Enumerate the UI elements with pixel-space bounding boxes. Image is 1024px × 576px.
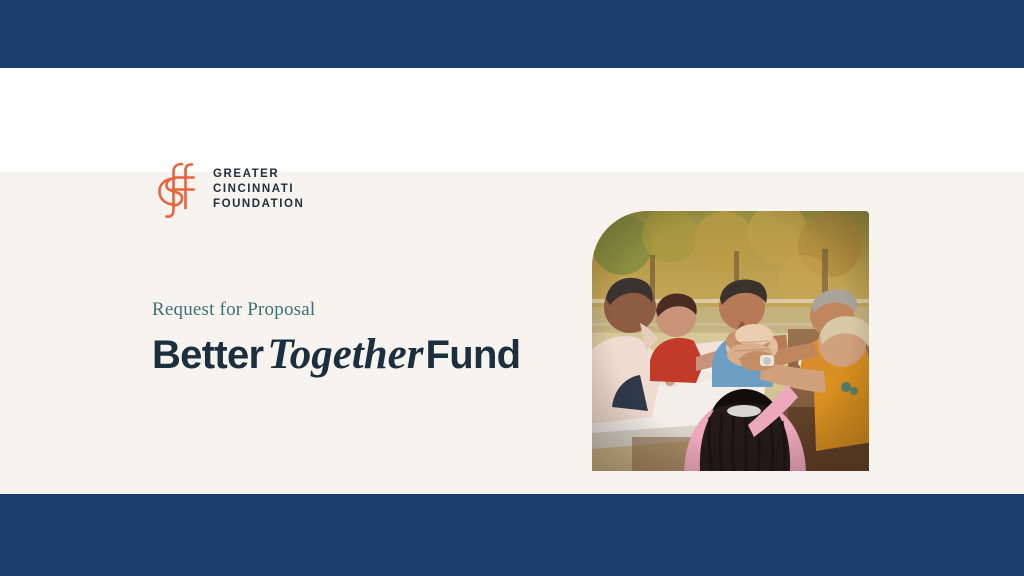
logo-line-foundation: FOUNDATION xyxy=(213,198,304,210)
headline-word-together: Together xyxy=(263,331,425,378)
logo-line-cincinnati: CINCINNATI xyxy=(213,183,304,195)
logo-line-greater: GREATER xyxy=(213,168,304,180)
bottom-navy-bar xyxy=(0,494,1024,576)
slide: GREATER CINCINNATI FOUNDATION Request fo… xyxy=(0,0,1024,576)
hero-photo xyxy=(592,211,869,471)
headline-word-fund: Fund xyxy=(425,333,520,377)
brand-logo: GREATER CINCINNATI FOUNDATION xyxy=(152,156,304,222)
eyebrow-label: Request for Proposal xyxy=(152,300,520,321)
logo-wordmark: GREATER CINCINNATI FOUNDATION xyxy=(213,168,304,210)
headline-word-better: Better xyxy=(152,333,263,377)
gcf-monogram-icon xyxy=(152,156,200,222)
page-title: BetterTogetherFund xyxy=(152,332,520,377)
title-block: Request for Proposal BetterTogetherFund xyxy=(152,300,520,377)
logo-band: GREATER CINCINNATI FOUNDATION xyxy=(0,68,1024,172)
top-navy-bar xyxy=(0,0,1024,68)
